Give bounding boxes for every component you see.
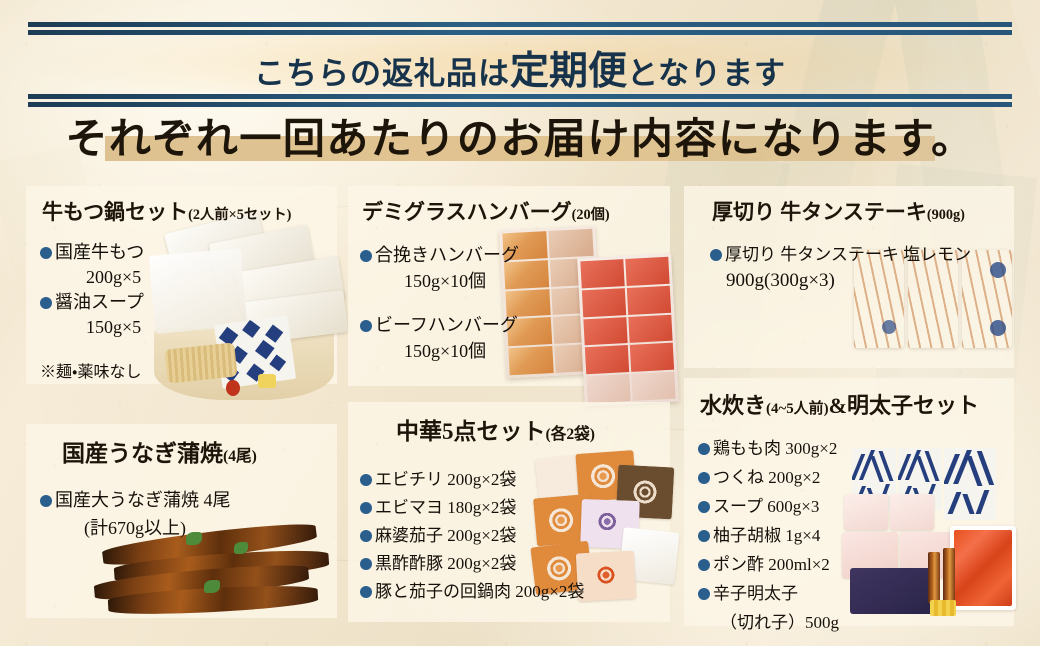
banner-title-pre: こちらの返礼品は [254,56,510,91]
card-note: ※麺・薬味なし [40,360,337,385]
card-divider [40,228,322,230]
card-title: 中華5点セット(各2袋) [396,412,670,446]
item-label: 辛子明太子 [713,584,798,603]
list-item: 辛子明太子 （切れ子）500g [698,579,1014,637]
card-divider [360,448,658,450]
bullet-icon [360,474,372,486]
item-amount: 150g×5 [40,315,337,340]
list-item: 黒酢酢豚 200g×2袋 [360,550,670,578]
item-label: 麻婆茄子 200g×2袋 [375,526,516,545]
item-label: エビチリ 200g×2袋 [375,470,516,489]
item-label: ポン酢 200ml×2 [713,555,830,574]
item-label: 醤油スープ [55,292,144,312]
item-label: エビマヨ 180g×2袋 [375,498,516,517]
bullet-icon [360,558,372,570]
bullet-icon [40,495,52,507]
bullet-icon [710,249,722,261]
item-label: つくね 200g×2 [713,468,820,487]
photo-eel [93,561,309,605]
bullet-icon [698,530,710,542]
photo-eel [113,547,329,587]
card-title: デミグラスハンバーグ(20個) [362,196,670,226]
list-item: 鶏もも肉 300g×2 [698,434,1014,463]
top-rule-upper [28,22,1012,35]
list-item: 醤油スープ 150g×5 [40,290,337,340]
bullet-icon [698,501,710,513]
card-title-main: デミグラスハンバーグ [362,200,572,224]
card-title-sub: (2人前×5セット) [188,207,291,223]
card-title: 水炊き(4~5人前)&明太子セット [700,388,1014,420]
bullet-icon [360,502,372,514]
item-label: 合挽きハンバーグ [375,245,519,265]
card-items: 合挽きハンバーグ 150g×10個 ビーフハンバーグ 150g×10個 [360,242,670,364]
item-label: 厚切り 牛タンステーキ 塩レモン [725,245,971,264]
list-item: 厚切り 牛タンステーキ 塩レモン 900g(300g×3) [710,242,1014,294]
card-title: 国産うなぎ蒲焼(4尾) [62,434,337,468]
list-item: つくね 200g×2 [698,463,1014,492]
card-title-main: 厚切り 牛タンステーキ [712,200,927,224]
product-card-motsunabe: 牛もつ鍋セット(2人前×5セット) 国産牛もつ 200g×5 醤油スープ 150… [26,186,337,384]
bullet-icon [40,297,52,309]
card-title-sub: (20個) [572,207,610,223]
item-amount: （切れ子）500g [698,608,1014,637]
bullet-icon [698,443,710,455]
bullet-icon [360,320,372,332]
bullet-icon [360,586,372,598]
item-label: 国産大うなぎ蒲焼 4尾 [55,490,231,510]
bullet-icon [360,250,372,262]
card-items: 国産大うなぎ蒲焼 4尾 (計670g以上) [40,486,337,542]
card-divider [696,422,996,424]
item-label: ビーフハンバーグ [375,315,518,335]
card-divider [704,228,996,230]
item-label: 鶏もも肉 300g×2 [713,439,837,458]
list-item: 豚と茄子の回鍋肉 200g×2袋 [360,578,670,606]
item-amount: (計670g以上) [40,514,337,542]
list-item: 麻婆茄子 200g×2袋 [360,522,670,550]
banner-title-top: こちらの返礼品は定期便となります [0,40,1040,96]
card-title: 牛もつ鍋セット(2人前×5セット) [42,196,337,226]
list-item: エビチリ 200g×2袋 [360,466,670,494]
photo-brand-mark [990,320,1006,336]
bullet-icon [360,530,372,542]
item-amount: 150g×10個 [360,268,670,294]
bullet-icon [698,472,710,484]
item-amount: 150g×10個 [360,338,670,364]
card-title-sub: (900g) [927,207,965,223]
product-card-unagi: 国産うなぎ蒲焼(4尾) 国産大うなぎ蒲焼 4尾 (計670g以上) [26,424,337,618]
photo-eel [108,583,319,618]
card-divider [360,228,656,230]
item-amount: 900g(300g×3) [710,268,1014,294]
item-label: 柚子胡椒 1g×4 [713,526,820,545]
card-title-sub: (4~5人前) [766,401,829,417]
product-card-gyutan: 厚切り 牛タンステーキ(900g) 厚切り 牛タンステーキ 塩レモン 900g(… [684,186,1014,368]
list-item: ビーフハンバーグ 150g×10個 [360,312,670,364]
product-card-chuka: 中華5点セット(各2袋) エビチリ 200g×2袋 エビマヨ 180g×2袋 麻… [348,402,670,622]
card-title-main: 牛もつ鍋セット [42,200,188,224]
list-item: 国産大うなぎ蒲焼 4尾 (計670g以上) [40,486,337,542]
item-label: スープ 600g×3 [713,497,819,516]
item-label: 黒酢酢豚 200g×2袋 [375,554,516,573]
card-title-main: 中華5点セット [396,419,546,444]
bullet-icon [698,588,710,600]
card-title-main: 国産うなぎ蒲焼 [62,441,223,466]
photo-herb [234,542,248,554]
list-item: エビマヨ 180g×2袋 [360,494,670,522]
photo-brand-mark [882,320,896,334]
banner-title-emphasis: 定期便 [510,50,627,93]
page-root: こちらの返礼品は定期便となります それぞれ一回あたりのお届け内容になります。 [0,0,1040,646]
item-amount: 200g×5 [40,265,337,290]
product-card-hamburg: デミグラスハンバーグ(20個) 合挽きハンバーグ 150g×10個 ビーフハンバ… [348,186,670,386]
header-banner: こちらの返礼品は定期便となります それぞれ一回あたりのお届け内容になります。 [0,0,1040,172]
card-title: 厚切り 牛タンステーキ(900g) [712,196,1014,226]
product-card-mizutaki: 水炊き(4~5人前)&明太子セット 鶏もも肉 300g×2 つくね 200g×2… [684,378,1014,626]
main-heading-wrap: それぞれ一回あたりのお届け内容になります。 [0,105,1040,167]
list-item: 合挽きハンバーグ 150g×10個 [360,242,670,294]
list-item: ポン酢 200ml×2 [698,550,1014,579]
card-divider [40,470,322,472]
banner-title-post: となります [627,56,786,91]
card-title-sub: (各2袋) [546,426,595,443]
bullet-icon [40,247,52,259]
photo-herb [204,580,220,593]
card-title-main-a: 水炊き [700,393,766,418]
card-items: 国産牛もつ 200g×5 醤油スープ 150g×5 ※麺・薬味なし [40,240,337,385]
bullet-icon [698,559,710,571]
main-heading: それぞれ一回あたりのお届け内容になります。 [0,105,1040,166]
list-item: 柚子胡椒 1g×4 [698,521,1014,550]
item-label: 国産牛もつ [55,242,144,262]
list-item: スープ 600g×3 [698,492,1014,521]
list-item: 国産牛もつ 200g×5 [40,240,337,290]
card-items: エビチリ 200g×2袋 エビマヨ 180g×2袋 麻婆茄子 200g×2袋 黒… [360,466,670,606]
card-items: 鶏もも肉 300g×2 つくね 200g×2 スープ 600g×3 柚子胡椒 1… [698,434,1014,637]
item-label: 豚と茄子の回鍋肉 200g×2袋 [375,582,584,601]
card-title-sub: (4尾) [223,448,257,465]
card-title-main-b: &明太子セット [829,393,979,418]
card-items: 厚切り 牛タンステーキ 塩レモン 900g(300g×3) [710,242,1014,294]
